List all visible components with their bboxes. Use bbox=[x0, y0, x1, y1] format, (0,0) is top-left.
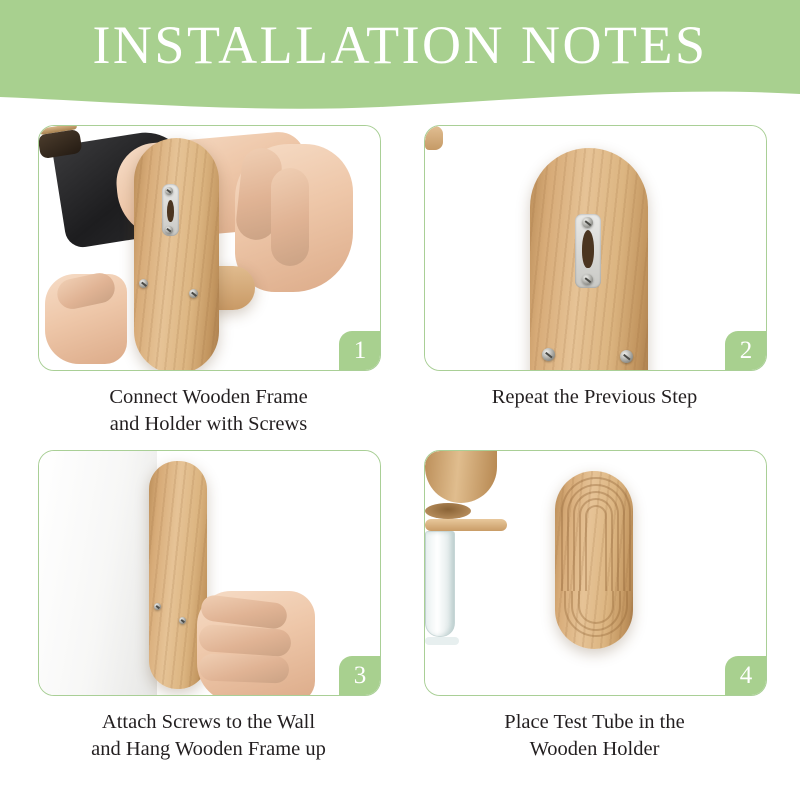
step-caption-line-1: Attach Screws to the Wall bbox=[38, 709, 379, 736]
screw-icon bbox=[542, 348, 555, 361]
step-photo-2 bbox=[425, 126, 766, 370]
holder-band-shape bbox=[425, 519, 507, 531]
test-tube-rim-shape bbox=[425, 637, 459, 645]
step-image-panel-4: 4 bbox=[424, 450, 767, 696]
holder-opening-shape bbox=[425, 503, 471, 519]
step-caption-1: Connect Wooden Frame and Holder with Scr… bbox=[38, 384, 379, 438]
finger-shape bbox=[271, 168, 309, 266]
screw-icon bbox=[165, 226, 173, 234]
step-caption-line-1: Connect Wooden Frame bbox=[38, 384, 379, 411]
step-photo-1 bbox=[39, 126, 380, 370]
step-image-panel-2: 2 bbox=[424, 125, 767, 371]
step-caption-3: Attach Screws to the Wall and Hang Woode… bbox=[38, 709, 379, 763]
screw-icon bbox=[582, 274, 593, 285]
test-tube-shape bbox=[425, 531, 455, 637]
step-caption-line-2: and Holder with Screws bbox=[38, 411, 379, 438]
steps-grid: 1 Connect Wooden Frame and Holder with S… bbox=[0, 120, 800, 800]
step-caption-line-1: Place Test Tube in the bbox=[424, 709, 765, 736]
step-number-badge-1: 1 bbox=[339, 331, 381, 371]
screw-icon bbox=[582, 217, 593, 228]
screw-icon bbox=[154, 603, 161, 610]
step-photo-4 bbox=[425, 451, 766, 695]
step-number-badge-3: 3 bbox=[339, 656, 381, 696]
screw-icon bbox=[620, 350, 633, 363]
screw-icon bbox=[189, 289, 198, 298]
step-number-badge-2: 2 bbox=[725, 331, 767, 371]
step-caption-line-1: Repeat the Previous Step bbox=[424, 384, 765, 411]
step-caption-line-2: and Hang Wooden Frame up bbox=[38, 736, 379, 763]
holder-lower-shape bbox=[425, 451, 497, 503]
step-caption-line-2: Wooden Holder bbox=[424, 736, 765, 763]
finger-shape bbox=[199, 653, 290, 683]
wooden-frame-shape bbox=[134, 138, 219, 370]
screw-icon bbox=[165, 187, 173, 195]
step-card-4: 4 Place Test Tube in the Wooden Holder bbox=[424, 450, 767, 763]
step-card-2: 2 Repeat the Previous Step bbox=[424, 125, 767, 411]
holder-arc-shape bbox=[585, 505, 607, 591]
page-title: INSTALLATION NOTES bbox=[0, 14, 800, 76]
step-photo-3 bbox=[39, 451, 380, 695]
step-image-panel-1: 1 bbox=[38, 125, 381, 371]
screw-icon bbox=[139, 279, 148, 288]
keyhole-slot-shape bbox=[167, 200, 174, 222]
wall-surface-shape bbox=[39, 451, 157, 695]
step-number-badge-4: 4 bbox=[725, 656, 767, 696]
page-header: INSTALLATION NOTES bbox=[0, 0, 800, 120]
step-card-1: 1 Connect Wooden Frame and Holder with S… bbox=[38, 125, 381, 438]
screw-icon bbox=[179, 617, 186, 624]
step-caption-4: Place Test Tube in the Wooden Holder bbox=[424, 709, 765, 763]
keyhole-slot-shape bbox=[582, 230, 594, 268]
wooden-holder-nub-shape bbox=[425, 126, 443, 150]
step-card-3: 3 Attach Screws to the Wall and Hang Woo… bbox=[38, 450, 381, 763]
installation-notes-page: INSTALLATION NOTES bbox=[0, 0, 800, 800]
step-image-panel-3: 3 bbox=[38, 450, 381, 696]
step-caption-2: Repeat the Previous Step bbox=[424, 384, 765, 411]
